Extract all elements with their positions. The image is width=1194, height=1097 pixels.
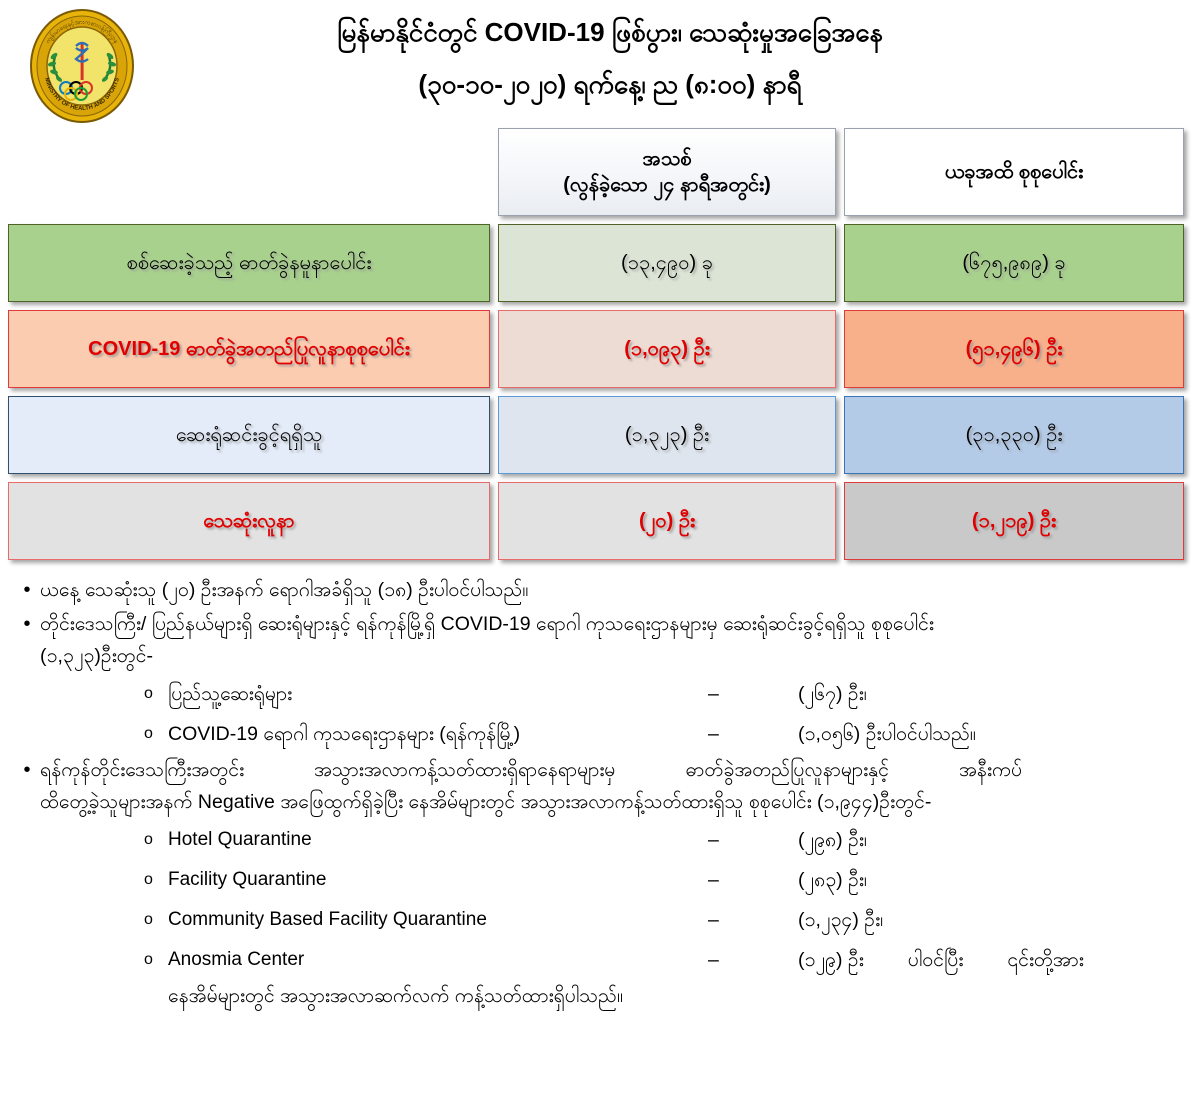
sub-item-anosmia-center: o Anosmia Center – (၁၂၉) ဦးပါဝင်ပြီး၎င်း… (144, 940, 1184, 980)
row-new-tests: (၁၃,၄၉၀) ခု (498, 224, 836, 302)
sub-item-hotel-quarantine: o Hotel Quarantine – (၂၉၈) ဦး၊ (144, 820, 1184, 860)
covid-summary-table: အသစ် (လွန်ခဲ့သော ၂၄ နာရီအတွင်း) ယခုအထိ စ… (8, 128, 1186, 560)
sub-item-value: (၂၉၈) ဦး၊ (798, 820, 1184, 860)
note-3-part-c: ဓာတ်ခွဲအတည်ပြုလူနာများနှင့် (685, 759, 889, 781)
bullet-icon: • (14, 574, 40, 606)
note-3-part-d: အနီးကပ် (959, 759, 1022, 781)
sub-item-value: (၁,၀၅၆) ဦးပါဝင်ပါသည်။ (798, 714, 1184, 754)
note-item-3: • ရန်ကုန်တိုင်းဒေသကြီးအတွင်းအသွားအလာကန့်… (14, 754, 1184, 818)
circle-bullet-icon: o (144, 940, 168, 980)
circle-bullet-icon: o (144, 820, 168, 860)
table-row-deaths: သေဆုံးလူနာ (၂၀) ဦး (၁,၂၁၉) ဦး (8, 482, 1186, 560)
row-total-confirmed: (၅၁,၄၉၆) ဦး (844, 310, 1184, 388)
column-header-new: အသစ် (လွန်ခဲ့သော ၂၄ နာရီအတွင်း) (498, 128, 836, 216)
note-3-tail-a: ပါဝင်ပြီး (908, 949, 964, 971)
circle-bullet-icon: o (144, 714, 168, 754)
sub-item-label: Anosmia Center (168, 940, 708, 980)
note-3-line-1: ရန်ကုန်တိုင်းဒေသကြီးအတွင်းအသွားအလာကန့်သတ… (40, 754, 1184, 786)
sub-item-value: (၂၈၃) ဦး၊ (798, 860, 1184, 900)
dash-icon: – (708, 674, 798, 714)
row-label-tests: စစ်ဆေးခဲ့သည့် ဓာတ်ခွဲနမူနာပေါင်း (8, 224, 490, 302)
dash-icon: – (708, 940, 798, 980)
bullet-icon: • (14, 754, 40, 818)
circle-bullet-icon: o (144, 860, 168, 900)
page-header: ကျန်းမာရေးနှင့်အားကစားဝန်ကြီးဌာန MINISTR… (0, 0, 1194, 128)
dash-icon: – (708, 900, 798, 940)
row-label-discharged: ဆေးရုံဆင်းခွင့်ရရှိသူ (8, 396, 490, 474)
table-row-confirmed: COVID-19 ဓာတ်ခွဲအတည်ပြုလူနာစုစုပေါင်း (၁… (8, 310, 1186, 388)
ministry-of-health-and-sports-logo: ကျန်းမာရေးနှင့်အားကစားဝန်ကြီးဌာန MINISTR… (28, 6, 136, 124)
sub-item-value: (၂၆၇) ဦး၊ (798, 674, 1184, 714)
circle-bullet-icon: o (144, 900, 168, 940)
column-header-new-line1: အသစ် (563, 146, 771, 172)
note-item-2: • တိုင်းဒေသကြီး/ ပြည်နယ်များရှိ ဆေးရုံမျ… (14, 608, 1184, 672)
dash-icon: – (708, 860, 798, 900)
table-header-row: အသစ် (လွန်ခဲ့သော ၂၄ နာရီအတွင်း) ယခုအထိ စ… (8, 128, 1186, 216)
sub-item-label: COVID-19 ရောဂါ ကုသရေးဌာနများ (ရန်ကုန်မြိ… (168, 714, 708, 754)
notes-section: • ယနေ့ သေဆုံးသူ (၂၀) ဦးအနက် ရောဂါအခံရှိသ… (0, 574, 1194, 1012)
circle-bullet-icon: o (144, 674, 168, 714)
note-3-part-a: ရန်ကုန်တိုင်းဒေသကြီးအတွင်း (40, 759, 244, 781)
table-row-tests: စစ်ဆေးခဲ့သည့် ဓာတ်ခွဲနမူနာပေါင်း (၁၃,၄၉၀… (8, 224, 1186, 302)
note-item-1: • ယနေ့ သေဆုံးသူ (၂၀) ဦးအနက် ရောဂါအခံရှိသ… (14, 574, 1184, 606)
row-total-tests: (၆၇၅,၉၈၉) ခု (844, 224, 1184, 302)
row-total-discharged: (၃၁,၃၃၀) ဦး (844, 396, 1184, 474)
dash-icon: – (708, 820, 798, 860)
note-3-tail-b: ၎င်းတို့အား (1007, 949, 1083, 971)
header-spacer (8, 128, 490, 216)
bullet-icon: • (14, 608, 40, 672)
dash-icon: – (708, 714, 798, 754)
row-total-deaths: (၁,၂၁၉) ဦး (844, 482, 1184, 560)
note-3-line-2: ထိတွေ့ခဲ့သူများအနက် Negative အဖြေထွက်ရှိ… (40, 786, 1184, 818)
sub-item-facility-quarantine: o Facility Quarantine – (၂၈၃) ဦး၊ (144, 860, 1184, 900)
column-header-total: ယခုအထိ စုစုပေါင်း (844, 128, 1184, 216)
column-header-new-line2: (လွန်ခဲ့သော ၂၄ နာရီအတွင်း) (563, 172, 771, 198)
title-line-1: မြန်မာနိုင်ငံတွင် COVID-19 ဖြစ်ပွား၊ သေဆ… (170, 14, 1050, 50)
row-new-deaths: (၂၀) ဦး (498, 482, 836, 560)
row-new-discharged: (၁,၃၂၃) ဦး (498, 396, 836, 474)
sub-item-label: Hotel Quarantine (168, 820, 708, 860)
title-line-2: (၃၀-၁၀-၂၀၂၀) ရက်နေ့၊ ည (၈:၀၀) နာရီ (170, 66, 1050, 102)
sub-item-community-based-facility-quarantine: o Community Based Facility Quarantine – … (144, 900, 1184, 940)
sub-item-value: (၁၂၉) ဦး (798, 949, 864, 971)
note-2-line-2: (၁,၃၂၃)ဦးတွင်- (40, 640, 1184, 672)
note-2-line-1: တိုင်းဒေသကြီး/ ပြည်နယ်များရှိ ဆေးရုံများ… (40, 608, 1184, 640)
note-1-text: ယနေ့ သေဆုံးသူ (၂၀) ဦးအနက် ရောဂါအခံရှိသူ … (40, 574, 1184, 606)
note-3-part-b: အသွားအလာကန့်သတ်ထားရှိရာနေရာများမှ (314, 759, 615, 781)
sub-item-label: ပြည်သူ့ဆေးရုံများ (168, 674, 708, 714)
sub-item-covid-treatment-centers: o COVID-19 ရောဂါ ကုသရေးဌာနများ (ရန်ကုန်မ… (144, 714, 1184, 754)
sub-item-value: (၁,၂၃၄) ဦး၊ (798, 900, 1184, 940)
row-new-confirmed: (၁,၀၉၃) ဦး (498, 310, 836, 388)
table-row-discharged: ဆေးရုံဆင်းခွင့်ရရှိသူ (၁,၃၂၃) ဦး (၃၁,၃၃၀… (8, 396, 1186, 474)
sub-item-label: Facility Quarantine (168, 860, 708, 900)
sub-item-public-hospitals: o ပြည်သူ့ဆေးရုံများ – (၂၆၇) ဦး၊ (144, 674, 1184, 714)
row-label-deaths: သေဆုံးလူနာ (8, 482, 490, 560)
note-3-last-line: နေအိမ်များတွင် အသွားအလာဆက်လက် ကန့်သတ်ထား… (168, 980, 1184, 1012)
sub-item-label: Community Based Facility Quarantine (168, 900, 708, 940)
row-label-confirmed: COVID-19 ဓာတ်ခွဲအတည်ပြုလူနာစုစုပေါင်း (8, 310, 490, 388)
page-title: မြန်မာနိုင်ငံတွင် COVID-19 ဖြစ်ပွား၊ သေဆ… (170, 14, 1050, 102)
